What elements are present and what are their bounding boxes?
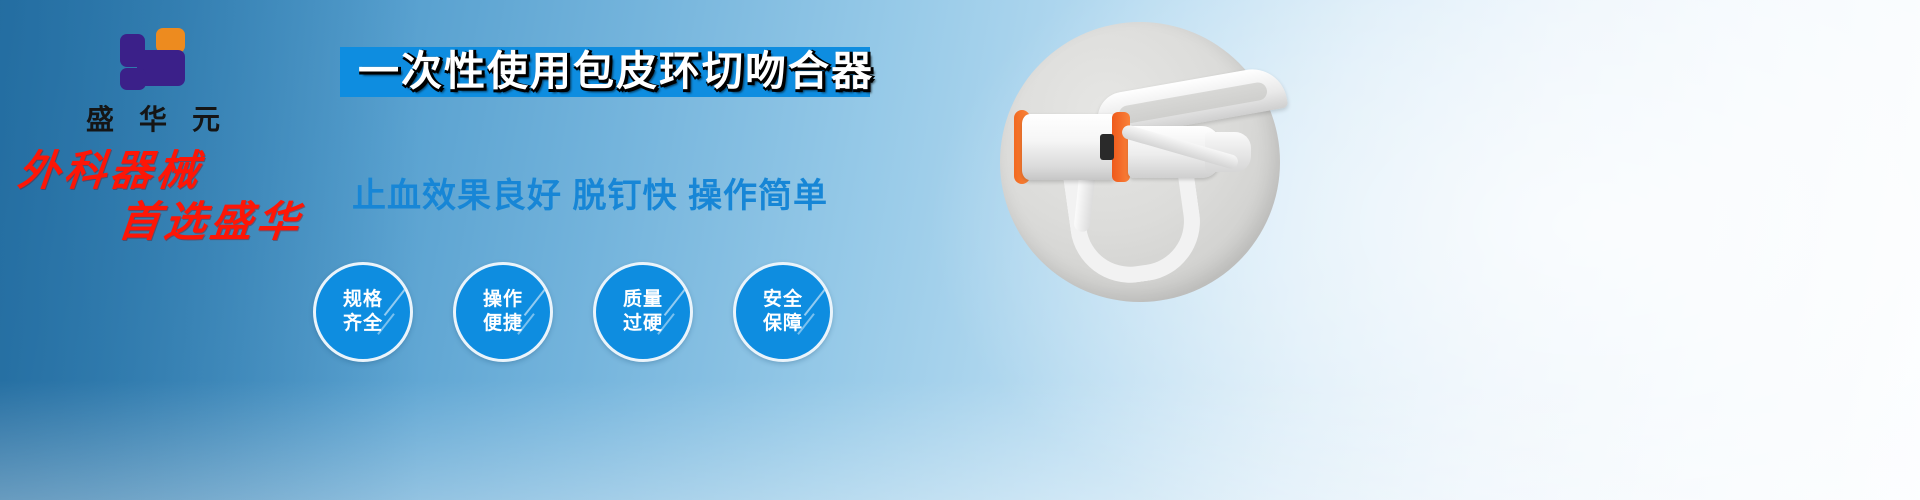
calligraphy-slogan: 外科器械 首选盛华 bbox=[18, 150, 348, 247]
feature-badge-4-line1: 安全 bbox=[763, 288, 803, 312]
promo-banner: 盛 华 元 外科器械 首选盛华 一次性使用包皮环切吻合器 止血效果良好 脱钉快 … bbox=[0, 0, 1920, 500]
feature-badge-3-line2: 过硬 bbox=[623, 312, 663, 336]
company-name: 盛 华 元 bbox=[68, 98, 238, 138]
page-title: 一次性使用包皮环切吻合器 bbox=[346, 42, 886, 100]
badge-slash-icon bbox=[804, 288, 827, 316]
feature-badge-3[interactable]: 质量 过硬 bbox=[593, 262, 693, 362]
badge-slash-icon bbox=[384, 288, 407, 316]
badge-slash-icon bbox=[664, 288, 687, 316]
shenghuayuan-logo-icon bbox=[120, 28, 186, 90]
feature-badge-1[interactable]: 规格 齐全 bbox=[313, 262, 413, 362]
feature-badge-2-line1: 操作 bbox=[483, 288, 523, 312]
feature-badge-2-line2: 便捷 bbox=[483, 312, 523, 336]
feature-badge-4-line2: 保障 bbox=[763, 312, 803, 336]
brand-logo: 盛 华 元 bbox=[68, 28, 238, 138]
logo-shape-lower-left bbox=[120, 68, 146, 90]
feature-badge-1-line2: 齐全 bbox=[343, 312, 383, 336]
feature-badge-3-line1: 质量 bbox=[623, 288, 663, 312]
calligraphy-line-2: 首选盛华 bbox=[116, 201, 351, 246]
feature-badge-2[interactable]: 操作 便捷 bbox=[453, 262, 553, 362]
background-gradient bbox=[0, 0, 1920, 500]
calligraphy-line-1: 外科器械 bbox=[16, 150, 351, 195]
feature-badge-4[interactable]: 安全 保障 bbox=[733, 262, 833, 362]
subtitle: 止血效果良好 脱钉快 操作简单 bbox=[330, 168, 850, 217]
product-photo-stapler bbox=[1000, 22, 1300, 302]
stapler-dark-band bbox=[1100, 134, 1114, 160]
feature-circle-group: 规格 齐全 操作 便捷 质量 过硬 安全 保障 bbox=[305, 262, 865, 362]
feature-badge-1-line1: 规格 bbox=[343, 288, 383, 312]
badge-slash-icon bbox=[524, 288, 547, 316]
